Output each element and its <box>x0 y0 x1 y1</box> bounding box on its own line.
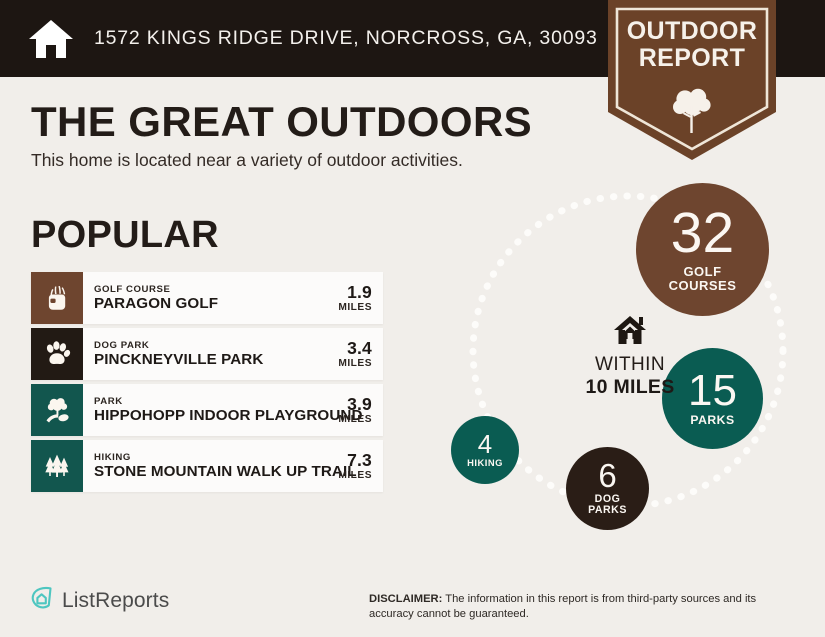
badge-line-2: REPORT <box>608 45 776 72</box>
list-item[interactable]: GOLF COURSE PARAGON GOLF 1.9 MILES <box>31 272 383 324</box>
list-item-category: DOG PARK <box>94 340 334 351</box>
list-item-distance: 3.9 MILES <box>334 384 383 436</box>
badge-label: OUTDOOR REPORT <box>608 18 776 72</box>
section-heading-popular: POPULAR <box>31 214 219 257</box>
bubble-label-line-1: GOLF <box>669 265 737 279</box>
listreports-house-leaf-icon <box>29 585 55 616</box>
bubble-label: HIKING <box>467 458 503 468</box>
list-item-distance: 7.3 MILES <box>334 440 383 492</box>
bubble-hiking[interactable]: 4 HIKING <box>451 416 519 484</box>
list-item-text: PARK HIPPOHOPP INDOOR PLAYGROUND <box>83 384 334 436</box>
listreports-logo[interactable]: ListReports <box>29 585 169 616</box>
page-subtitle: This home is located near a variety of o… <box>31 150 463 171</box>
listreports-logo-text: ListReports <box>62 589 169 613</box>
bubble-dog-parks[interactable]: 6 DOG PARKS <box>566 447 649 530</box>
tree-icon <box>672 86 712 134</box>
distance-value: 3.9 <box>347 395 372 413</box>
distance-value: 3.4 <box>347 339 372 357</box>
list-item-name: PARAGON GOLF <box>94 295 334 313</box>
popular-places-list: GOLF COURSE PARAGON GOLF 1.9 MILES <box>31 272 383 496</box>
home-icon <box>28 18 74 60</box>
list-item-name: HIPPOHOPP INDOOR PLAYGROUND <box>94 407 334 425</box>
disclaimer-label: DISCLAIMER: <box>369 593 442 605</box>
center-label-line-2: 10 MILES <box>550 376 710 398</box>
bubble-golf-courses[interactable]: 32 GOLF COURSES <box>636 183 769 316</box>
outdoor-report-infographic: 1572 KINGS RIDGE DRIVE, NORCROSS, GA, 30… <box>0 0 825 637</box>
within-10-miles-bubble-chart: 32 GOLF COURSES 15 PARKS 6 DOG PARKS 4 H… <box>432 175 825 560</box>
pine-trees-icon <box>31 440 83 492</box>
park-tree-icon <box>31 384 83 436</box>
list-item-text: GOLF COURSE PARAGON GOLF <box>83 272 334 324</box>
distance-unit: MILES <box>338 414 372 425</box>
distance-unit: MILES <box>338 470 372 481</box>
home-icon <box>613 332 647 349</box>
list-item[interactable]: PARK HIPPOHOPP INDOOR PLAYGROUND 3.9 MIL… <box>31 384 383 436</box>
badge-line-1: OUTDOOR <box>608 18 776 45</box>
bubble-label: GOLF COURSES <box>669 265 737 293</box>
bubble-label-line-2: COURSES <box>669 279 737 293</box>
bubble-label: DOG PARKS <box>588 494 627 517</box>
page-title: THE GREAT OUTDOORS <box>31 98 532 146</box>
list-item-distance: 3.4 MILES <box>334 328 383 380</box>
list-item-text: DOG PARK PINCKNEYVILLE PARK <box>83 328 334 380</box>
distance-unit: MILES <box>338 358 372 369</box>
list-item-distance: 1.9 MILES <box>334 272 383 324</box>
distance-unit: MILES <box>338 302 372 313</box>
disclaimer: DISCLAIMER: The information in this repo… <box>369 592 794 622</box>
list-item-name: STONE MOUNTAIN WALK UP TRAIL <box>94 463 334 481</box>
bubble-label-line-2: PARKS <box>588 505 627 516</box>
center-label-line-1: WITHIN <box>550 355 710 376</box>
paw-print-icon <box>31 328 83 380</box>
property-address: 1572 KINGS RIDGE DRIVE, NORCROSS, GA, 30… <box>94 27 598 50</box>
list-item[interactable]: HIKING STONE MOUNTAIN WALK UP TRAIL 7.3 … <box>31 440 383 492</box>
list-item-name: PINCKNEYVILLE PARK <box>94 351 334 369</box>
list-item[interactable]: DOG PARK PINCKNEYVILLE PARK 3.4 MILES <box>31 328 383 380</box>
bubble-label: PARKS <box>690 414 734 427</box>
bubble-value: 32 <box>671 206 734 260</box>
outdoor-report-badge: OUTDOOR REPORT <box>608 0 776 160</box>
footer: ListReports DISCLAIMER: The information … <box>0 575 825 637</box>
distance-value: 7.3 <box>347 451 372 469</box>
list-item-category: PARK <box>94 396 334 407</box>
distance-value: 1.9 <box>347 283 372 301</box>
bubble-value: 6 <box>598 460 616 491</box>
list-item-text: HIKING STONE MOUNTAIN WALK UP TRAIL <box>83 440 334 492</box>
chart-center-label: WITHIN 10 MILES <box>550 315 710 398</box>
list-item-category: HIKING <box>94 452 334 463</box>
list-item-category: GOLF COURSE <box>94 284 334 295</box>
golf-bag-icon <box>31 272 83 324</box>
bubble-value: 4 <box>478 432 492 457</box>
